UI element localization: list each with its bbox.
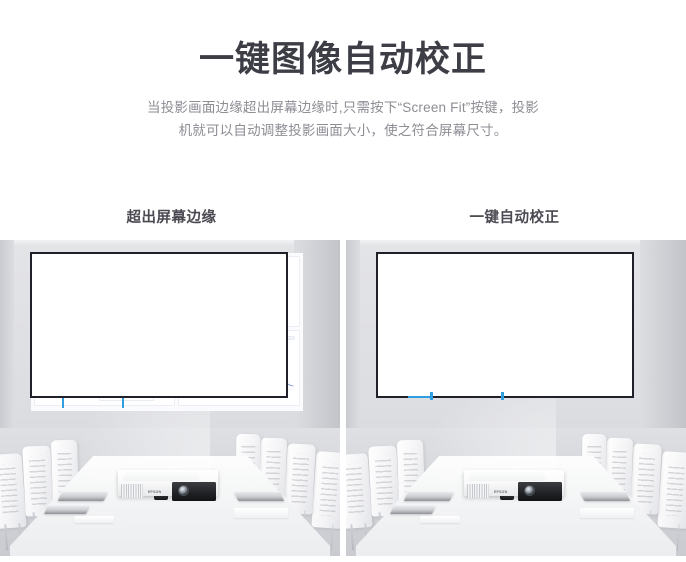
- page-subtitle: 当投影画面边缘超出屏幕边缘时,只需按下“Screen Fit”按键，投影 机就可…: [0, 96, 686, 142]
- overflow-marker-1: [62, 398, 64, 408]
- projected-image-after: 数据统计·趋势图 访问量 成交量: [378, 254, 632, 396]
- line-chart-button-1[interactable]: [586, 330, 604, 334]
- photo-panel-before: 数据统计·趋势图 访问量 成交量: [0, 240, 340, 556]
- legend-label-1: 访问量: [181, 260, 189, 264]
- projected-image-before: 数据统计·趋势图 访问量 成交量: [31, 253, 303, 411]
- projector-body: EPSON: [118, 470, 218, 496]
- projector-front-panel: [518, 482, 562, 501]
- card-line-title: Depth: [184, 335, 194, 339]
- projector-device-before: EPSON: [118, 462, 218, 502]
- laptop-right-1: [234, 492, 284, 501]
- paper-right: [234, 508, 288, 518]
- projector-body: EPSON: [464, 470, 564, 496]
- chart-tooltip: [496, 272, 532, 291]
- photo-panel-after: 数据统计·趋势图 访问量 成交量: [346, 240, 686, 556]
- card-line-title: Depth: [521, 329, 531, 333]
- projector-foot: [154, 496, 168, 500]
- donut-legend: [571, 314, 624, 316]
- dashboard: 数据统计·趋势图 访问量 成交量: [378, 254, 632, 396]
- donut-legend: [237, 320, 295, 322]
- line-chart-plot: [522, 339, 623, 381]
- page-title: 一键图像自动校正: [0, 38, 686, 82]
- chart-tooltip: [158, 272, 196, 293]
- fit-marker-bar: [408, 396, 432, 398]
- card-area-chart: 数据统计·趋势图 访问量 成交量: [34, 256, 228, 327]
- projector-front-panel: [172, 482, 216, 501]
- calendar-widget[interactable]: 2018-05 一二三四五六日 1234567 891011121314 151…: [99, 337, 154, 401]
- paper-left: [74, 516, 114, 523]
- wall-shade-left: [0, 240, 14, 428]
- projector-top-panel: [469, 472, 548, 481]
- overflow-marker-2: [122, 398, 124, 408]
- wall-shade-left: [346, 240, 360, 428]
- laptop-left-2: [390, 506, 436, 514]
- calendar-grid[interactable]: 一二三四五六日 1234567 891011121314 15161718192…: [444, 344, 490, 361]
- projector-top-panel: [123, 472, 202, 481]
- paper-left: [420, 516, 460, 523]
- line-chart-svg: [185, 345, 294, 395]
- calendar-select[interactable]: [444, 333, 490, 338]
- donut-chart: [576, 267, 618, 309]
- projector-foot: [500, 496, 514, 500]
- legend-label-1: 访问量: [515, 261, 523, 265]
- donut-chart: [244, 269, 286, 311]
- card-area-title: 数据统计·趋势图: [40, 261, 65, 266]
- donut-legend-item-3: [581, 314, 583, 316]
- line-chart-button-1[interactable]: [257, 336, 275, 340]
- label-after: 一键自动校正: [343, 206, 686, 227]
- laptop-left-1: [58, 492, 108, 501]
- projector-device-after: EPSON: [464, 462, 564, 502]
- donut-legend-item-1: [237, 320, 239, 322]
- donut-legend-item-1: [571, 314, 573, 316]
- card-donut-chart: 数据统计·占比图: [565, 257, 629, 321]
- line-chart-plot: [185, 345, 294, 395]
- laptop-right-1: [580, 492, 630, 501]
- dashboard: 数据统计·趋势图 访问量 成交量: [31, 253, 303, 411]
- chair-right-1: [311, 451, 340, 529]
- donut-legend-item-2: [242, 320, 244, 322]
- paper-right: [580, 508, 634, 518]
- projector-lens-icon: [179, 486, 188, 495]
- ceiling-line: [0, 240, 340, 245]
- page-subtitle-line-1: 当投影画面边缘超出屏幕边缘时,只需按下“Screen Fit”按键，投影: [0, 96, 686, 119]
- projector-vent-grille: [121, 484, 143, 498]
- laptop-left-2: [44, 506, 90, 514]
- donut-legend-item-3: [247, 320, 249, 322]
- legend-label-2: 成交量: [205, 260, 213, 264]
- fit-marker-2: [501, 392, 504, 400]
- laptop-left-1: [404, 492, 454, 501]
- donut-legend-item-2: [576, 314, 578, 316]
- projector-lens-icon: [525, 486, 534, 495]
- card-area-title: 数据统计·趋势图: [387, 262, 412, 267]
- comparison-labels: 超出屏幕边缘 一键自动校正: [0, 206, 686, 227]
- calendar-month: 2018-05: [102, 347, 151, 350]
- projector-brand-label: EPSON: [148, 490, 161, 494]
- comparison-photos: 数据统计·趋势图 访问量 成交量: [0, 240, 686, 556]
- calendar-selected-day: 16: [451, 354, 457, 357]
- line-chart-button-2[interactable]: [279, 336, 295, 340]
- card-donut-chart: 数据统计·占比图: [231, 256, 300, 327]
- calendar-grid[interactable]: 一二三四五六日 1234567 891011121314 15161718192…: [102, 351, 151, 368]
- calendar-selected-day: 16: [109, 362, 116, 365]
- chair-right-1: [657, 451, 686, 529]
- card-bar-title: 数据统计·对比图: [387, 329, 412, 334]
- card-bar-chart: 数据统计·对比图 2018-05: [34, 330, 175, 406]
- ceiling-line: [346, 240, 686, 245]
- page-subtitle-line-2: 机就可以自动调整投影画面大小，使之符合屏幕尺寸。: [0, 119, 686, 142]
- label-before: 超出屏幕边缘: [0, 206, 343, 227]
- card-donut-title: 数据统计·占比图: [237, 261, 262, 266]
- page-header: 一键图像自动校正 当投影画面边缘超出屏幕边缘时,只需按下“Screen Fit”…: [0, 0, 686, 142]
- card-line-chart: Depth: [178, 330, 300, 406]
- card-line-chart: Depth: [515, 324, 629, 392]
- card-bar-chart: 数据统计·对比图 2018-05: [381, 324, 512, 392]
- legend-label-2: 成交量: [539, 261, 547, 265]
- calendar-month: 2018-05: [444, 340, 490, 343]
- projector-brand-label: EPSON: [494, 490, 507, 494]
- calendar-widget[interactable]: 2018-05 一二三四五六日 1234567 891011121314 151…: [441, 330, 493, 387]
- projector-vent-grille: [467, 484, 489, 498]
- wall-shade-right: [640, 240, 686, 428]
- line-chart-button-2[interactable]: [608, 330, 624, 334]
- line-chart-svg: [522, 339, 623, 381]
- card-area-chart: 数据统计·趋势图 访问量 成交量: [381, 257, 562, 321]
- calendar-select[interactable]: [102, 340, 151, 345]
- card-bar-title: 数据统计·对比图: [40, 335, 65, 340]
